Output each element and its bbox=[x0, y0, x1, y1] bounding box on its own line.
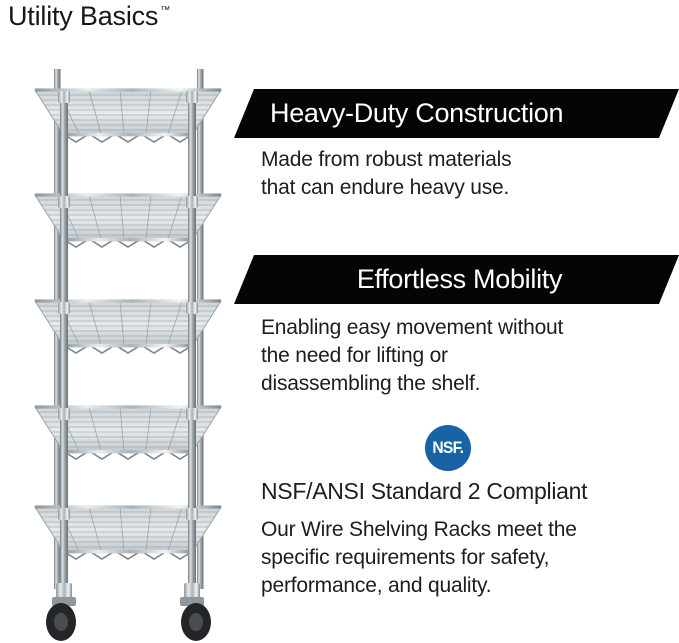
wire-shelving-illustration bbox=[16, 55, 240, 643]
feature-content: Heavy-Duty Construction Made from robust… bbox=[240, 80, 679, 640]
feature-description-effortless-mobility: Enabling easy movement without the need … bbox=[261, 314, 679, 398]
description-line: disassembling the shelf. bbox=[261, 370, 679, 398]
description-line: the need for lifting or bbox=[261, 342, 679, 370]
description-line: Made from robust materials bbox=[261, 146, 679, 174]
brand-name: Utility Basics bbox=[8, 2, 158, 32]
certification-description: Our Wire Shelving Racks meet the specifi… bbox=[261, 516, 679, 600]
feature-banner-effortless-mobility: Effortless Mobility bbox=[234, 255, 679, 304]
description-line: that can endure heavy use. bbox=[261, 174, 679, 202]
feature-banner-heavy-duty: Heavy-Duty Construction bbox=[234, 89, 679, 138]
product-image bbox=[16, 55, 240, 643]
feature-description-heavy-duty: Made from robust materials that can endu… bbox=[261, 146, 679, 202]
feature-banner-label: Effortless Mobility bbox=[357, 266, 562, 293]
description-line: specific requirements for safety, bbox=[261, 544, 679, 572]
caster-right bbox=[180, 583, 211, 641]
brand-logo: Utility Basics ™ bbox=[8, 2, 170, 32]
feature-banner-label: Heavy-Duty Construction bbox=[270, 100, 563, 127]
certification-heading: NSF/ANSI Standard 2 Compliant bbox=[261, 478, 679, 506]
description-line: performance, and quality. bbox=[261, 572, 679, 600]
description-line: Our Wire Shelving Racks meet the bbox=[261, 516, 679, 544]
description-line: Enabling easy movement without bbox=[261, 314, 679, 342]
trademark-symbol: ™ bbox=[160, 5, 170, 16]
nsf-certification-icon: NSF. bbox=[425, 425, 471, 471]
product-feature-panel: Utility Basics ™ bbox=[0, 0, 679, 643]
nsf-badge-label: NSF. bbox=[433, 438, 464, 458]
caster-left bbox=[46, 583, 76, 641]
